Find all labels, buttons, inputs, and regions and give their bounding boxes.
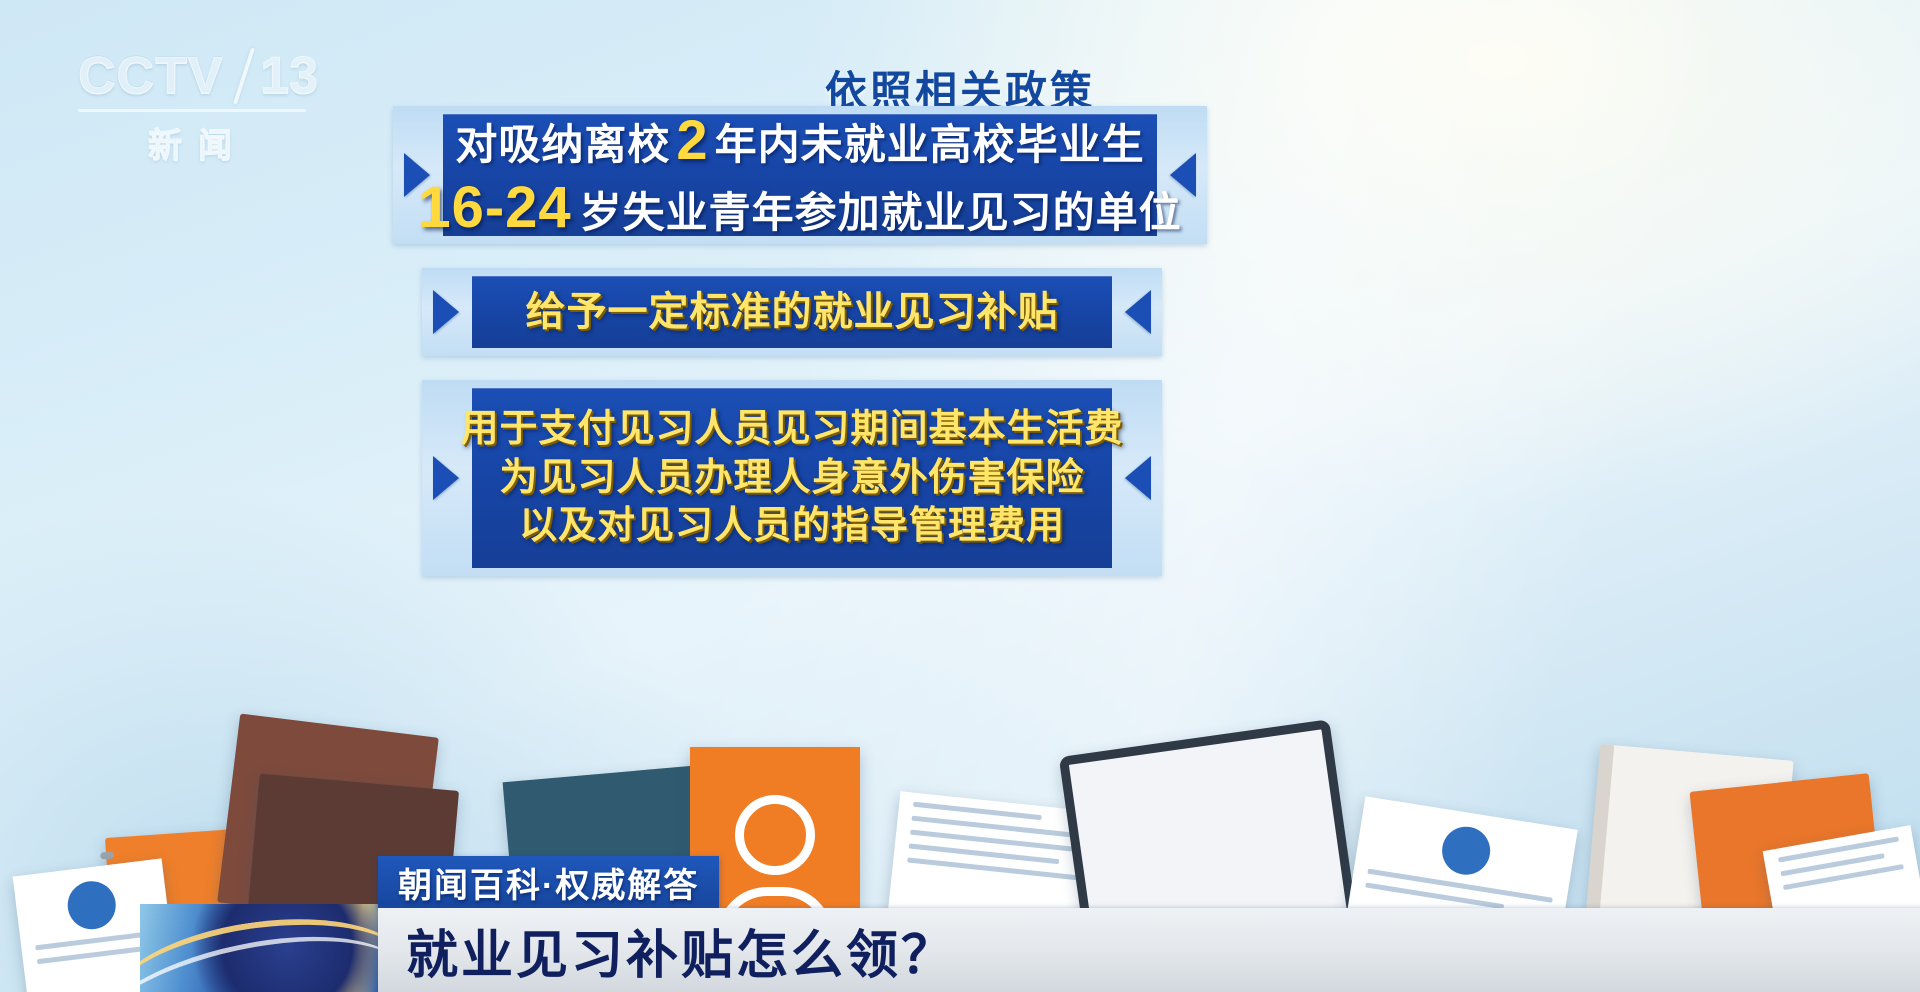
- chevron-left-icon-right-3: [1125, 456, 1151, 500]
- headline-bar: 就业见习补贴怎么领？: [378, 908, 1920, 992]
- panel-eligibility: 对吸纳离校 2 年内未就业高校毕业生 16-24 岁失业青年参加就业见习的单位: [393, 106, 1207, 244]
- panel-subsidy: 给予一定标准的就业见习补贴: [422, 268, 1162, 356]
- program-tag-label: 朝闻百科·权威解答: [398, 858, 699, 907]
- headline-text: 就业见习补贴怎么领？: [406, 913, 956, 988]
- panel-usage: 用于支付见习人员见习期间基本生活费 为见习人员办理人身意外伤害保险 以及对见习人…: [422, 380, 1162, 576]
- panel-2-line-1: 给予一定标准的就业见习补贴: [526, 290, 1059, 335]
- panel-3-line-3: 以及对见习人员的指导管理费用: [519, 505, 1065, 548]
- panel-3-line-1: 用于支付见习人员见习期间基本生活费: [461, 408, 1124, 451]
- chevron-right-icon-left-3: [433, 456, 459, 500]
- panel-stack: 对吸纳离校 2 年内未就业高校毕业生 16-24 岁失业青年参加就业见习的单位: [0, 106, 1920, 576]
- news-globe-logo: [140, 904, 378, 992]
- broadcast-graphic: CCTV 13 新闻 依照相关政策 对吸纳离校 2 年内未就业高校毕业生: [0, 0, 1920, 992]
- panel-3-line-2: 为见习人员办理人身意外伤害保险: [499, 457, 1084, 500]
- chevron-right-icon-left-2: [433, 290, 459, 334]
- chevron-left-icon-right-2: [1125, 290, 1151, 334]
- panel-1-line-1: 对吸纳离校 2 年内未就业高校毕业生: [455, 109, 1144, 172]
- program-tag: 朝闻百科·权威解答: [378, 856, 719, 908]
- panel-1-line-2: 16-24 岁失业青年参加就业见习的单位: [418, 176, 1181, 241]
